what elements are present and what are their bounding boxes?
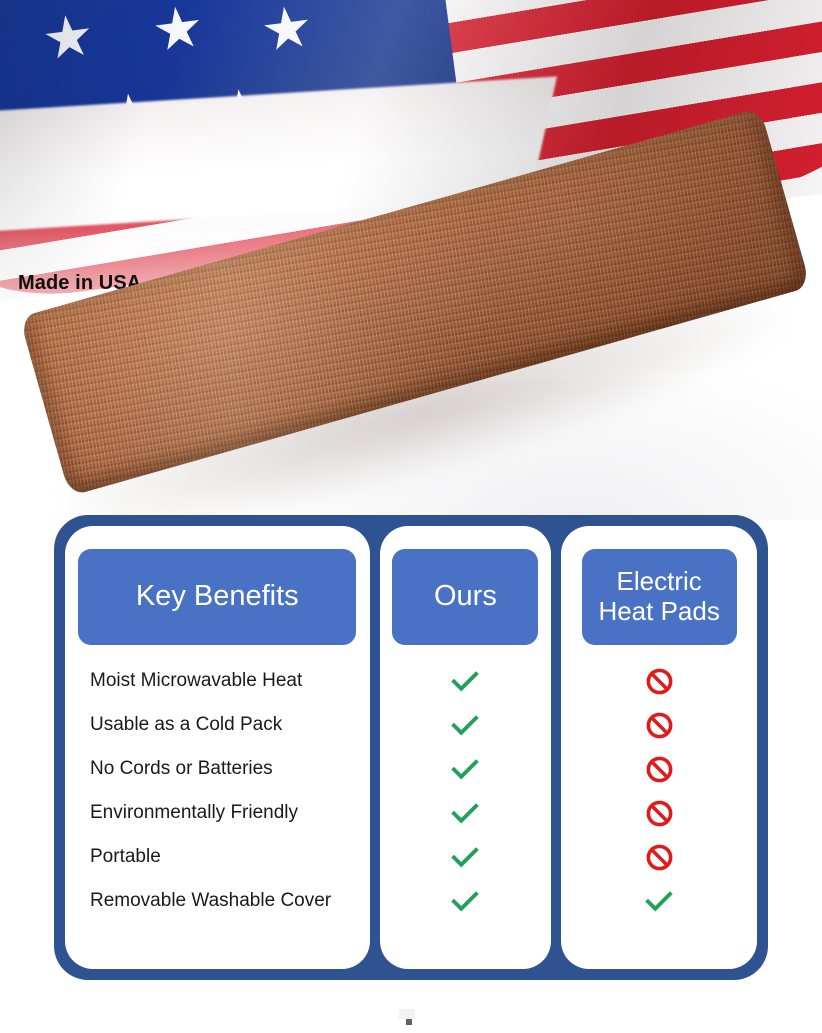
column-header-line1: Electric: [617, 566, 702, 596]
scan-artifact: [399, 1009, 415, 1019]
table-row: No Cords or Batteries: [65, 747, 370, 791]
prohibited-icon: [645, 755, 674, 784]
table-row: [380, 879, 552, 923]
ours-value-list: [380, 659, 552, 923]
table-row: [561, 879, 757, 923]
table-row: [380, 659, 552, 703]
table-row: [380, 791, 552, 835]
column-key-benefits: Key Benefits Moist Microwavable Heat Usa…: [65, 526, 370, 969]
table-row: [380, 835, 552, 879]
table-row: Moist Microwavable Heat: [65, 659, 370, 703]
column-header-key-benefits: Key Benefits: [78, 549, 356, 645]
table-row: [561, 747, 757, 791]
table-row: Environmentally Friendly: [65, 791, 370, 835]
infographic-page: Made in USA Key Benefits Moist Microwava…: [0, 0, 822, 1033]
benefit-label-list: Moist Microwavable Heat Usable as a Cold…: [65, 659, 370, 923]
prohibited-icon: [645, 799, 674, 828]
check-icon: [450, 886, 480, 916]
check-icon: [450, 842, 480, 872]
table-row: [561, 835, 757, 879]
check-icon: [450, 666, 480, 696]
check-icon: [450, 710, 480, 740]
table-row: [380, 703, 552, 747]
column-electric-heat-pads: Electric Heat Pads: [561, 526, 757, 969]
scan-artifact: [406, 1019, 412, 1025]
hero-photo: Made in USA: [0, 0, 822, 520]
comparison-table: Key Benefits Moist Microwavable Heat Usa…: [54, 515, 768, 980]
table-row: Usable as a Cold Pack: [65, 703, 370, 747]
table-row: Portable: [65, 835, 370, 879]
table-row: [561, 791, 757, 835]
column-header-ours: Ours: [392, 549, 538, 645]
column-ours: Ours: [380, 526, 552, 969]
table-row: Removable Washable Cover: [65, 879, 370, 923]
column-header-line2: Heat Pads: [598, 596, 719, 626]
check-icon: [450, 798, 480, 828]
check-icon: [450, 754, 480, 784]
table-row: [561, 703, 757, 747]
check-icon: [644, 886, 674, 916]
column-header-electric-heat-pads: Electric Heat Pads: [582, 549, 737, 645]
electric-value-list: [561, 659, 757, 923]
table-row: [561, 659, 757, 703]
prohibited-icon: [645, 711, 674, 740]
prohibited-icon: [645, 843, 674, 872]
prohibited-icon: [645, 667, 674, 696]
table-row: [380, 747, 552, 791]
